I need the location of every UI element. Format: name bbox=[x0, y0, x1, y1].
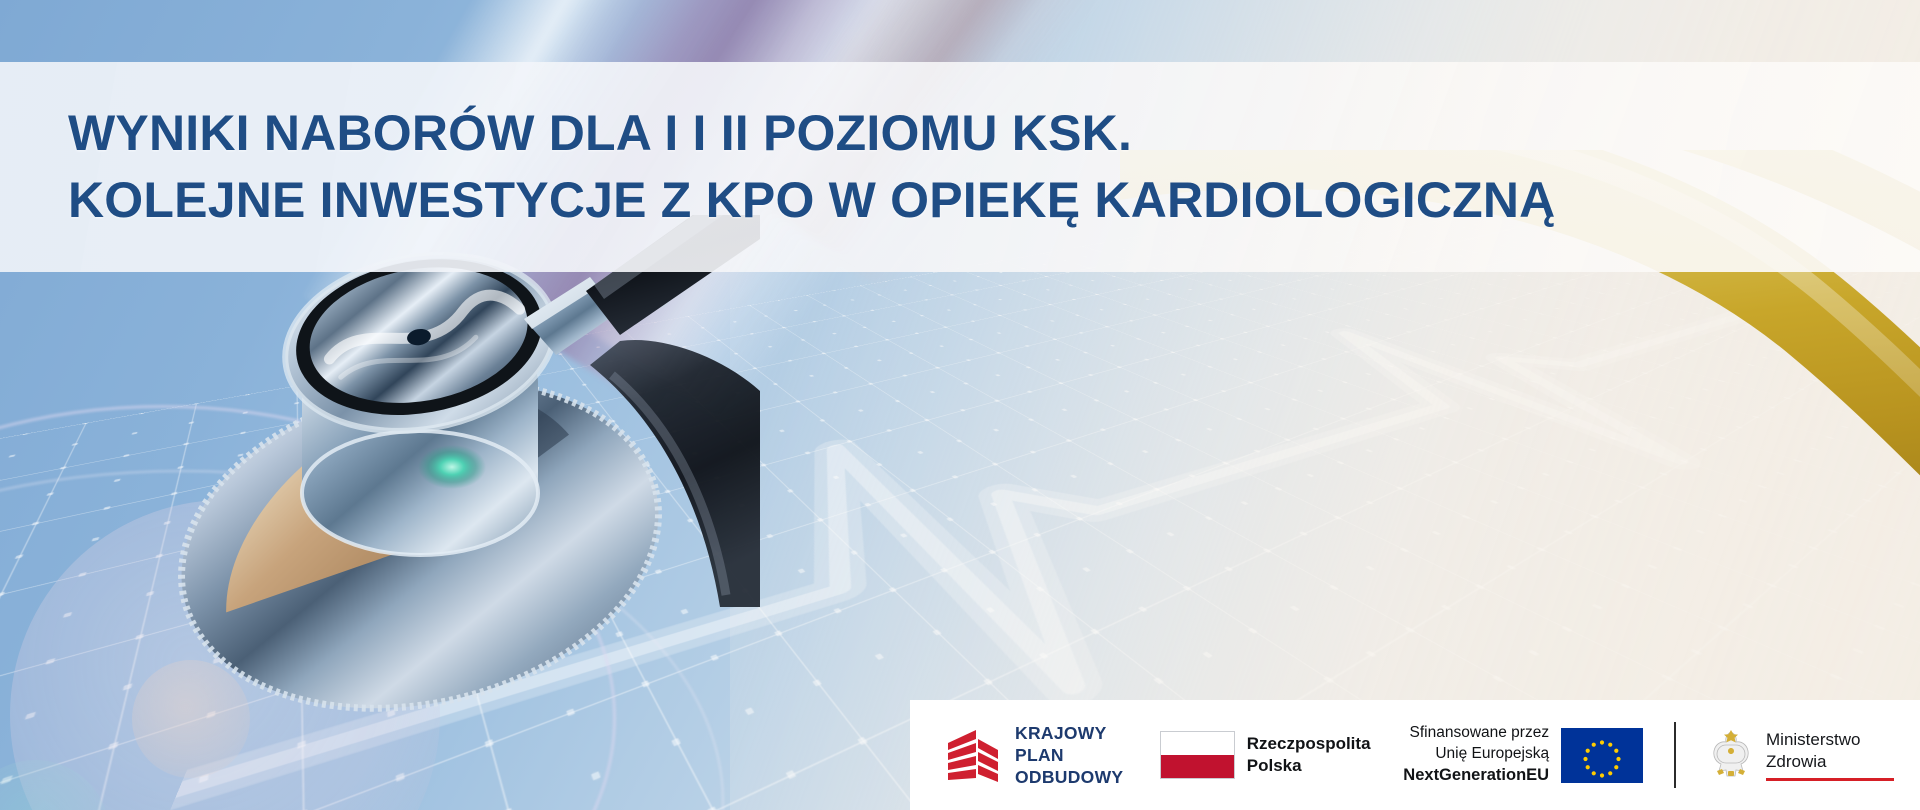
poland-flag-icon bbox=[1160, 731, 1235, 779]
title-banner-band: WYNIKI NABORÓW DLA I I II POZIOMU KSK. K… bbox=[0, 62, 1920, 272]
eu-flag-icon bbox=[1561, 728, 1643, 783]
eu-wordmark: Sfinansowane przez Unię Europejską NextG… bbox=[1403, 723, 1549, 786]
poland-line-2: Polska bbox=[1247, 755, 1371, 777]
banner-image: WYNIKI NABORÓW DLA I I II POZIOMU KSK. K… bbox=[0, 0, 1920, 810]
funding-logo-bar: KRAJOWY PLAN ODBUDOWY Rzeczpospolita Pol… bbox=[910, 700, 1920, 810]
kpo-line-1: KRAJOWY bbox=[1015, 722, 1123, 744]
logo-divider bbox=[1674, 722, 1676, 788]
logo-rzeczpospolita-polska: Rzeczpospolita Polska bbox=[1160, 700, 1371, 810]
ministry-wordmark: Ministerstwo Zdrowia bbox=[1766, 729, 1894, 781]
logo-krajowy-plan-odbudowy: KRAJOWY PLAN ODBUDOWY bbox=[942, 700, 1123, 810]
kpo-building-icon bbox=[942, 726, 1002, 784]
ministry-line-2: Zdrowia bbox=[1766, 751, 1894, 773]
ministry-line-1: Ministerstwo bbox=[1766, 729, 1894, 751]
eu-line-1: Sfinansowane przez bbox=[1403, 723, 1549, 744]
poland-line-1: Rzeczpospolita bbox=[1247, 733, 1371, 755]
eu-line-3: NextGenerationEU bbox=[1403, 765, 1549, 787]
page-title-line-1: WYNIKI NABORÓW DLA I I II POZIOMU KSK. bbox=[68, 100, 1920, 167]
ministry-red-rule bbox=[1766, 778, 1894, 781]
page-title-line-2: KOLEJNE INWESTYCJE Z KPO W OPIEKĘ KARDIO… bbox=[68, 167, 1920, 234]
kpo-line-3: ODBUDOWY bbox=[1015, 766, 1123, 788]
poland-wordmark: Rzeczpospolita Polska bbox=[1247, 733, 1371, 777]
eu-line-2: Unię Europejską bbox=[1403, 744, 1549, 765]
logo-ministerstwo-zdrowia: Ministerstwo Zdrowia bbox=[1707, 700, 1894, 810]
kpo-line-2: PLAN bbox=[1015, 744, 1123, 766]
kpo-wordmark: KRAJOWY PLAN ODBUDOWY bbox=[1015, 722, 1123, 788]
polish-eagle-icon bbox=[1707, 727, 1755, 783]
logo-european-union: Sfinansowane przez Unię Europejską NextG… bbox=[1403, 700, 1643, 810]
